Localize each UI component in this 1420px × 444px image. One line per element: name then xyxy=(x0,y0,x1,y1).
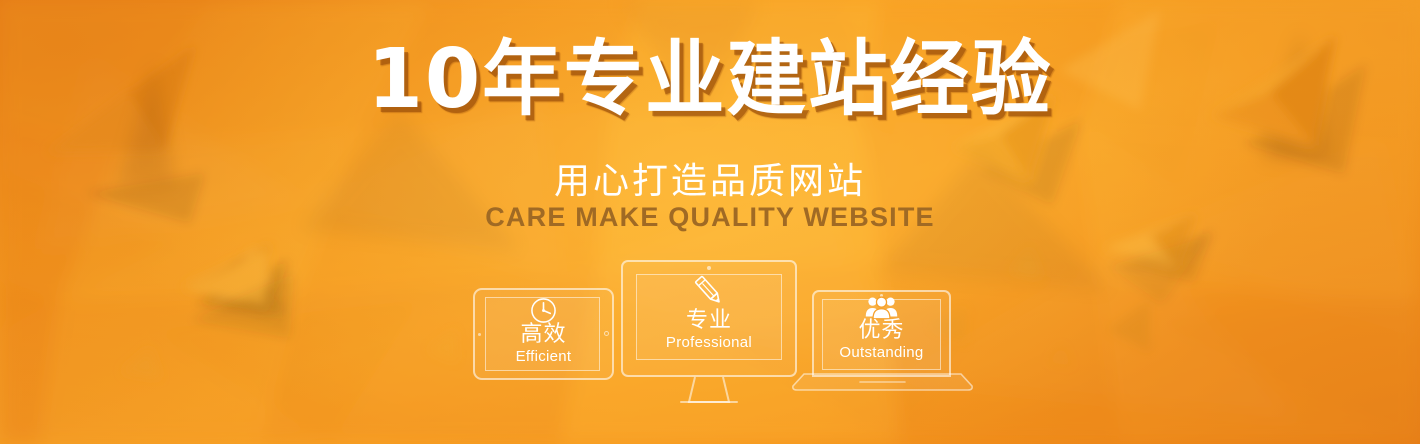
feature-label-outstanding-cn: 优秀 xyxy=(812,318,951,342)
feature-label-professional-cn: 专业 xyxy=(621,308,797,332)
feature-label-efficient-cn: 高效 xyxy=(473,322,614,346)
feature-devices: 高效 Efficient xyxy=(0,0,1420,444)
feature-label-outstanding-en: Outstanding xyxy=(812,344,951,363)
feature-label-efficient: 高效 Efficient xyxy=(473,322,614,367)
laptop-base xyxy=(790,370,975,396)
pencil-icon xyxy=(621,272,797,310)
clock-icon xyxy=(473,296,614,324)
feature-label-professional: 专业 Professional xyxy=(621,308,797,353)
feature-label-efficient-en: Efficient xyxy=(473,348,614,367)
monitor-stand xyxy=(621,0,797,444)
promo-banner: 10年专业建站经验 用心打造品质网站 CARE MAKE QUALITY WEB… xyxy=(0,0,1420,444)
feature-label-outstanding: 优秀 Outstanding xyxy=(812,318,951,363)
feature-label-professional-en: Professional xyxy=(621,334,797,353)
